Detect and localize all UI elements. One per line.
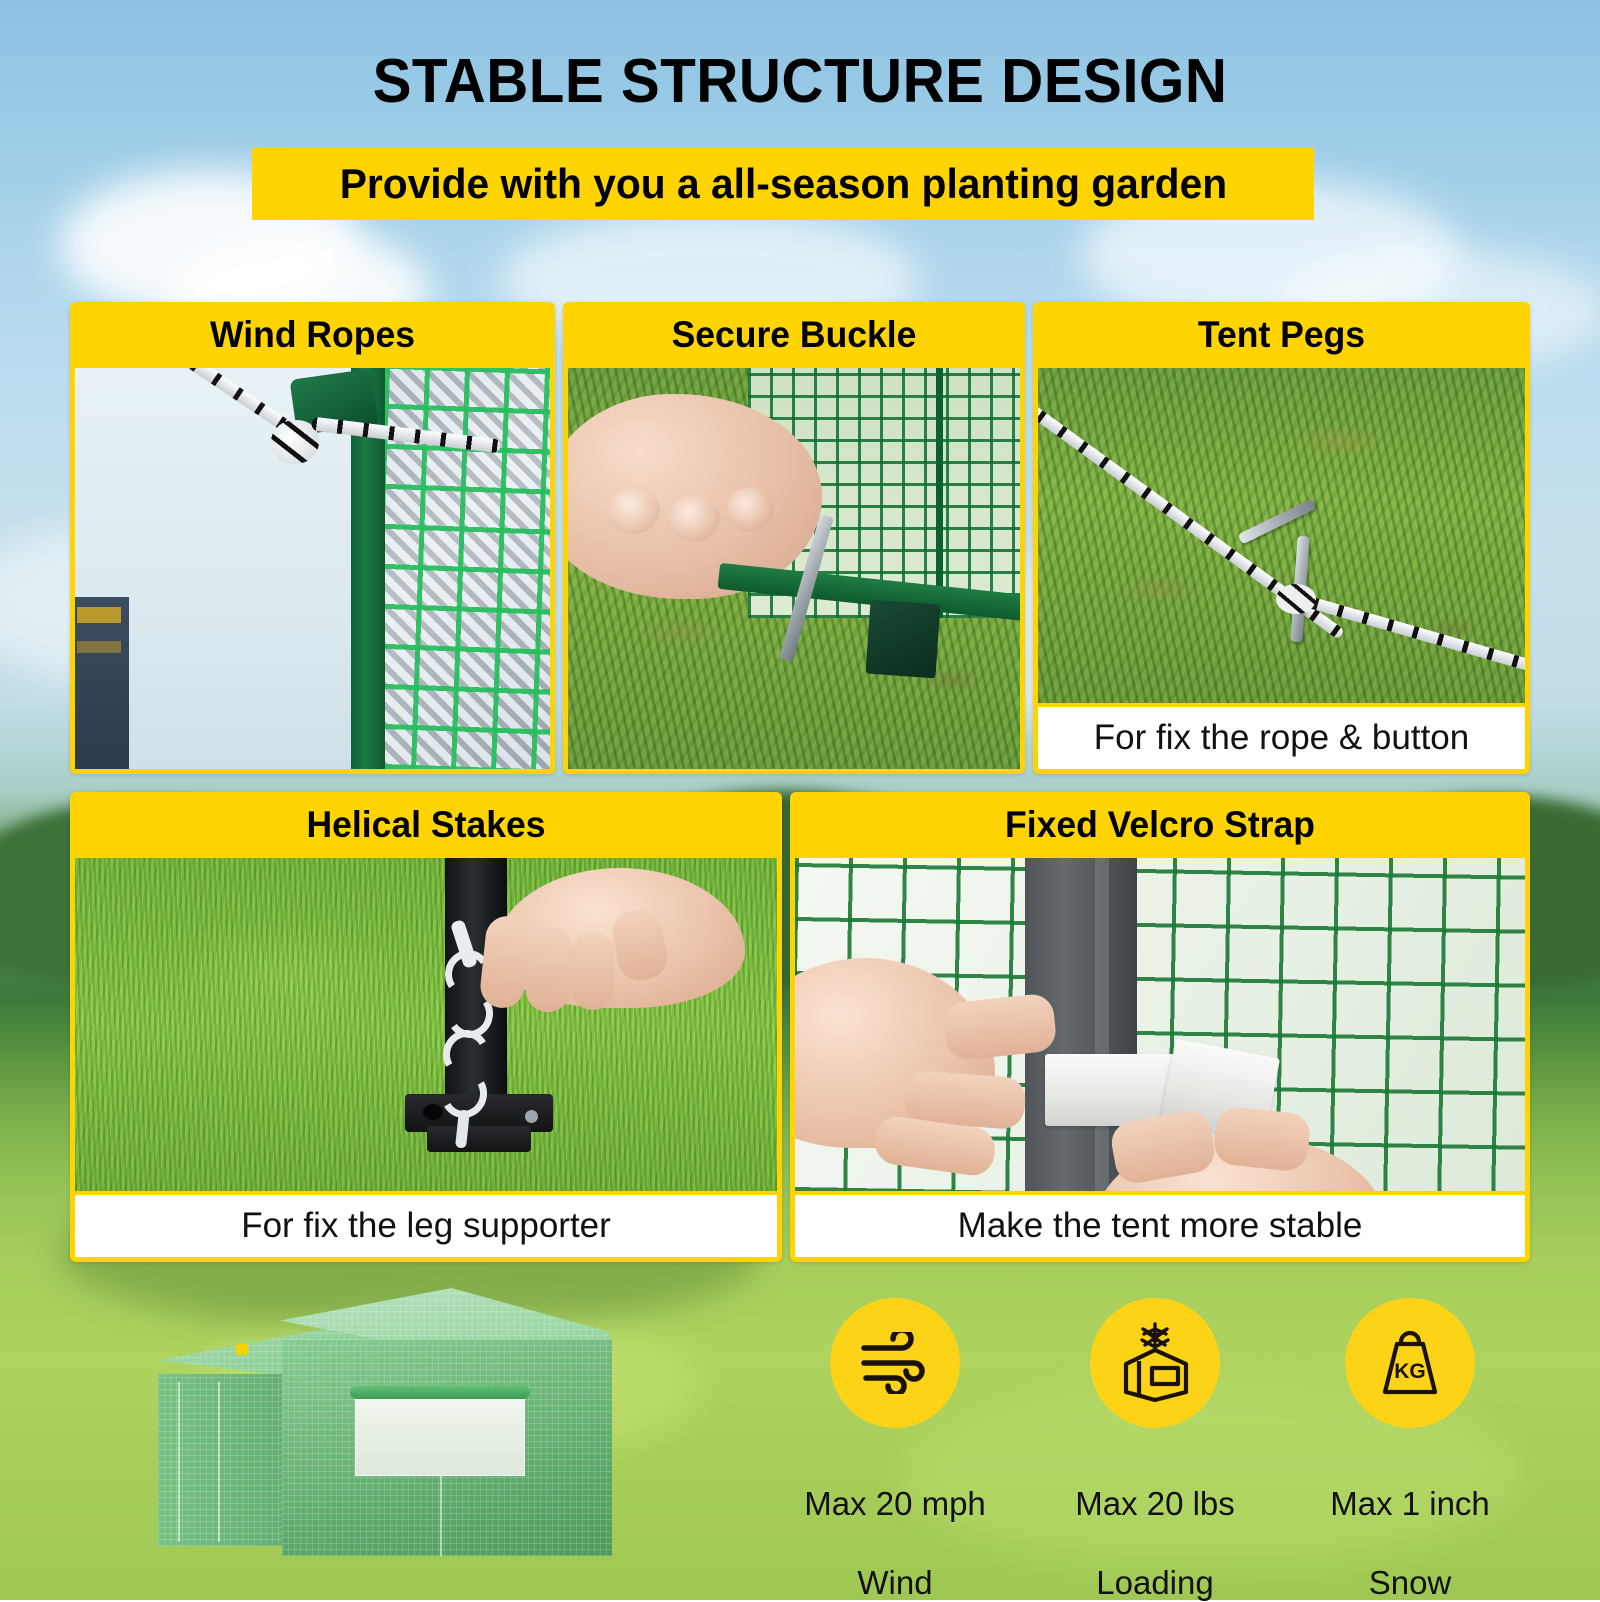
feature-loading-line2: Loading — [1096, 1564, 1213, 1601]
secure-buckle-photo — [568, 368, 1020, 769]
card-title-helical-stakes: Helical Stakes — [84, 792, 768, 858]
card-caption-helical-stakes: For fix the leg supporter — [75, 1195, 777, 1257]
feature-wind-line1: Max 20 mph — [804, 1485, 986, 1522]
card-photo-tent-pegs — [1038, 368, 1525, 703]
greenhouse-side-panel — [158, 1374, 284, 1546]
feature-card-secure-buckle: Secure Buckle — [563, 302, 1025, 774]
card-photo-helical-stakes — [75, 858, 777, 1191]
door-zipper — [178, 1382, 180, 1542]
page-title: STABLE STRUCTURE DESIGN — [48, 46, 1552, 117]
pole-highlight — [1095, 858, 1109, 1191]
subtitle-banner: Provide with you a all-season planting g… — [252, 148, 1314, 220]
building-window — [77, 607, 121, 623]
feature-card-fixed-velcro-strap: Fixed Velcro Strap Make the tent more st… — [790, 792, 1530, 1262]
card-photo-fixed-velcro-strap — [795, 858, 1525, 1191]
wind-badge — [830, 1298, 960, 1428]
mesh-seam — [936, 368, 943, 618]
feature-snow-label: Max 1 inch Snow — [1300, 1444, 1520, 1602]
card-title-secure-buckle: Secure Buckle — [572, 302, 1016, 368]
feature-card-helical-stakes: Helical Stakes For fix the leg supporter — [70, 792, 782, 1262]
card-caption-fixed-velcro-strap: Make the tent more stable — [795, 1195, 1525, 1257]
helical-stake-photo — [75, 858, 777, 1191]
feature-snow-line1: Max 1 inch — [1330, 1485, 1490, 1522]
knuckle — [726, 488, 774, 532]
feature-wind: Max 20 mph Wind — [785, 1298, 1005, 1602]
snow-house-icon — [1112, 1320, 1198, 1406]
feature-loading: Max 20 lbs Loading — [1045, 1298, 1265, 1602]
rope-peg-knot — [1276, 584, 1316, 614]
loading-badge — [1090, 1298, 1220, 1428]
product-greenhouse-image — [140, 1280, 700, 1570]
door-zipper — [218, 1382, 220, 1542]
feature-loading-label: Max 20 lbs Loading — [1045, 1444, 1265, 1602]
base-hole — [423, 1104, 443, 1120]
tent-peg-photo — [1038, 368, 1525, 703]
subtitle-text: Provide with you a all-season planting g… — [339, 160, 1226, 208]
building-silhouette — [75, 597, 129, 769]
finger — [525, 925, 573, 1013]
finger — [571, 932, 615, 1010]
feature-wind-label: Max 20 mph Wind — [785, 1444, 1005, 1602]
card-photo-secure-buckle — [568, 368, 1020, 769]
snow-badge: KG — [1345, 1298, 1475, 1428]
finger — [942, 992, 1057, 1061]
card-title-tent-pegs: Tent Pegs — [1043, 302, 1520, 368]
grass-texture — [1038, 368, 1525, 703]
card-title-fixed-velcro-strap: Fixed Velcro Strap — [805, 792, 1515, 858]
card-photo-wind-ropes — [75, 368, 550, 769]
knuckle — [608, 488, 660, 534]
buckle — [866, 600, 941, 679]
building-window — [77, 641, 121, 653]
greenhouse-window — [355, 1398, 525, 1476]
base-screw — [525, 1110, 538, 1123]
feature-loading-line1: Max 20 lbs — [1075, 1485, 1235, 1522]
brand-tag — [236, 1344, 248, 1355]
knuckle — [668, 496, 720, 542]
leg-base-foot — [427, 1126, 531, 1152]
card-title-wind-ropes: Wind Ropes — [80, 302, 546, 368]
wind-rope-photo — [75, 368, 550, 769]
feature-snow: KG Max 1 inch Snow — [1300, 1298, 1520, 1602]
thumb — [1212, 1105, 1312, 1173]
wind-icon — [858, 1332, 932, 1394]
feature-card-wind-ropes: Wind Ropes — [70, 302, 555, 774]
velcro-strap-photo — [795, 858, 1525, 1191]
feature-wind-line2: Wind — [857, 1564, 932, 1601]
feature-snow-line2: Snow — [1369, 1564, 1452, 1601]
kg-icon-text: KG — [1394, 1360, 1426, 1383]
window-roll-up-bar — [350, 1386, 530, 1399]
card-caption-tent-pegs: For fix the rope & button — [1038, 707, 1525, 769]
feature-card-tent-pegs: Tent Pegs For fix the rope & button — [1033, 302, 1530, 774]
kg-weight-icon: KG — [1371, 1322, 1449, 1404]
